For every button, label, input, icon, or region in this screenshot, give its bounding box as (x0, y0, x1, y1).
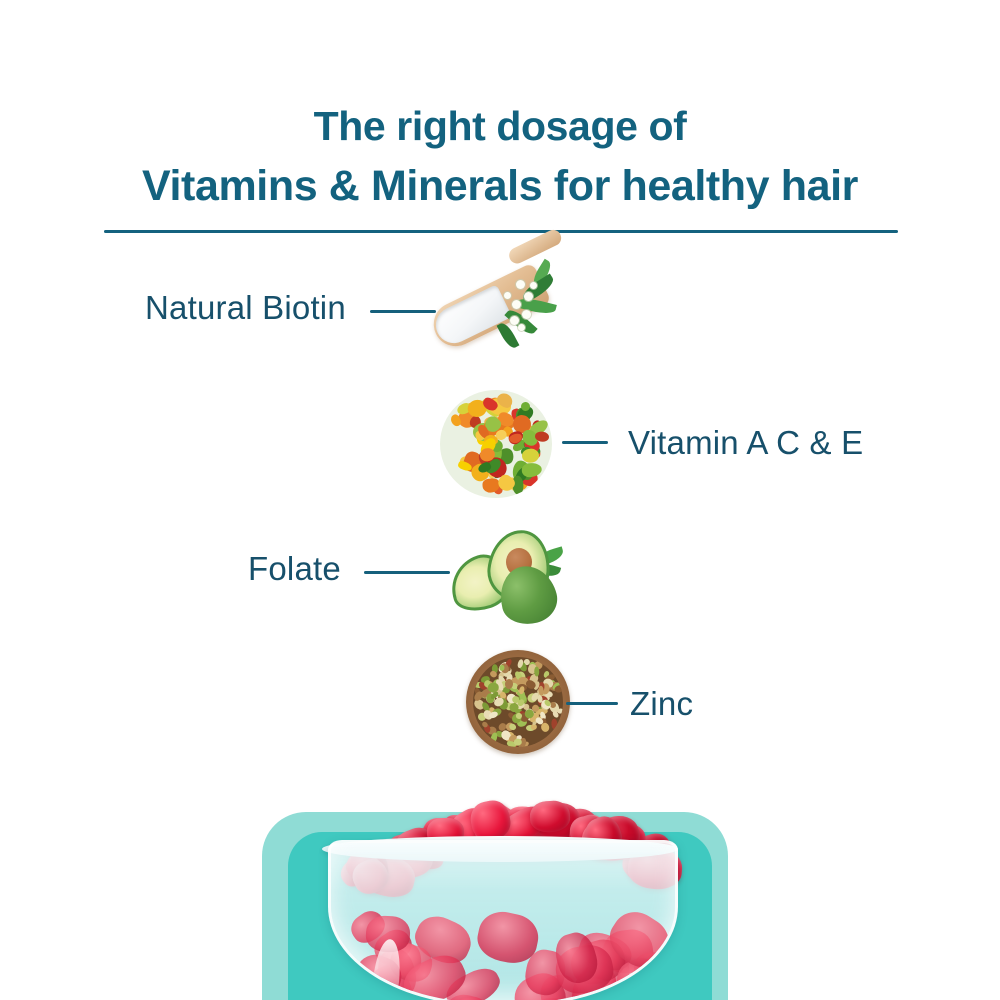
legume-seed (538, 686, 544, 696)
flower-blossom (524, 292, 533, 301)
flower-blossom (510, 316, 519, 325)
biotin-powder (430, 284, 512, 349)
glass-bowl (328, 840, 678, 1000)
connector-line-folate (364, 571, 450, 574)
legume-seed (504, 678, 513, 689)
avocado-image (444, 522, 564, 626)
legumes-fill (473, 657, 563, 747)
flower-blossom (516, 280, 525, 289)
produce-item (521, 461, 542, 477)
infographic-canvas: The right dosage of Vitamins & Minerals … (0, 0, 1000, 1000)
gummies-bowl-photo (318, 782, 682, 1000)
produce-item (522, 448, 540, 463)
ingredient-label-zinc: Zinc (630, 684, 693, 724)
flower-blossom (504, 292, 511, 299)
page-title-line-1: The right dosage of (0, 96, 1000, 156)
legume-seed (499, 665, 505, 671)
produce-collage (440, 390, 552, 498)
gummies-inside-bowl (351, 913, 677, 1000)
scoop-handle (506, 227, 563, 266)
flower-blossom (512, 300, 521, 309)
connector-line-zinc (566, 702, 618, 705)
page-title-line-2: Vitamins & Minerals for healthy hair (0, 156, 1000, 216)
fruits-vegetables-circle-image (440, 390, 555, 502)
ingredient-label-folate: Folate (248, 549, 341, 589)
wooden-scoop-powder-herbs-image (424, 252, 564, 364)
ingredient-label-natural-biotin: Natural Biotin (145, 288, 346, 328)
legume-seed (534, 667, 539, 677)
flower-blossom (530, 282, 537, 289)
gummy (528, 799, 570, 833)
legumes-bowl-image (466, 650, 576, 758)
ingredient-label-vitamin-a-c-e: Vitamin A C & E (628, 423, 863, 463)
legume-seed (540, 722, 550, 733)
flower-blossom (522, 310, 531, 319)
connector-line-vitamin-a-c-e (562, 441, 608, 444)
title-divider (104, 230, 898, 233)
flower-blossom (518, 324, 525, 331)
page-title: The right dosage of Vitamins & Minerals … (0, 96, 1000, 216)
